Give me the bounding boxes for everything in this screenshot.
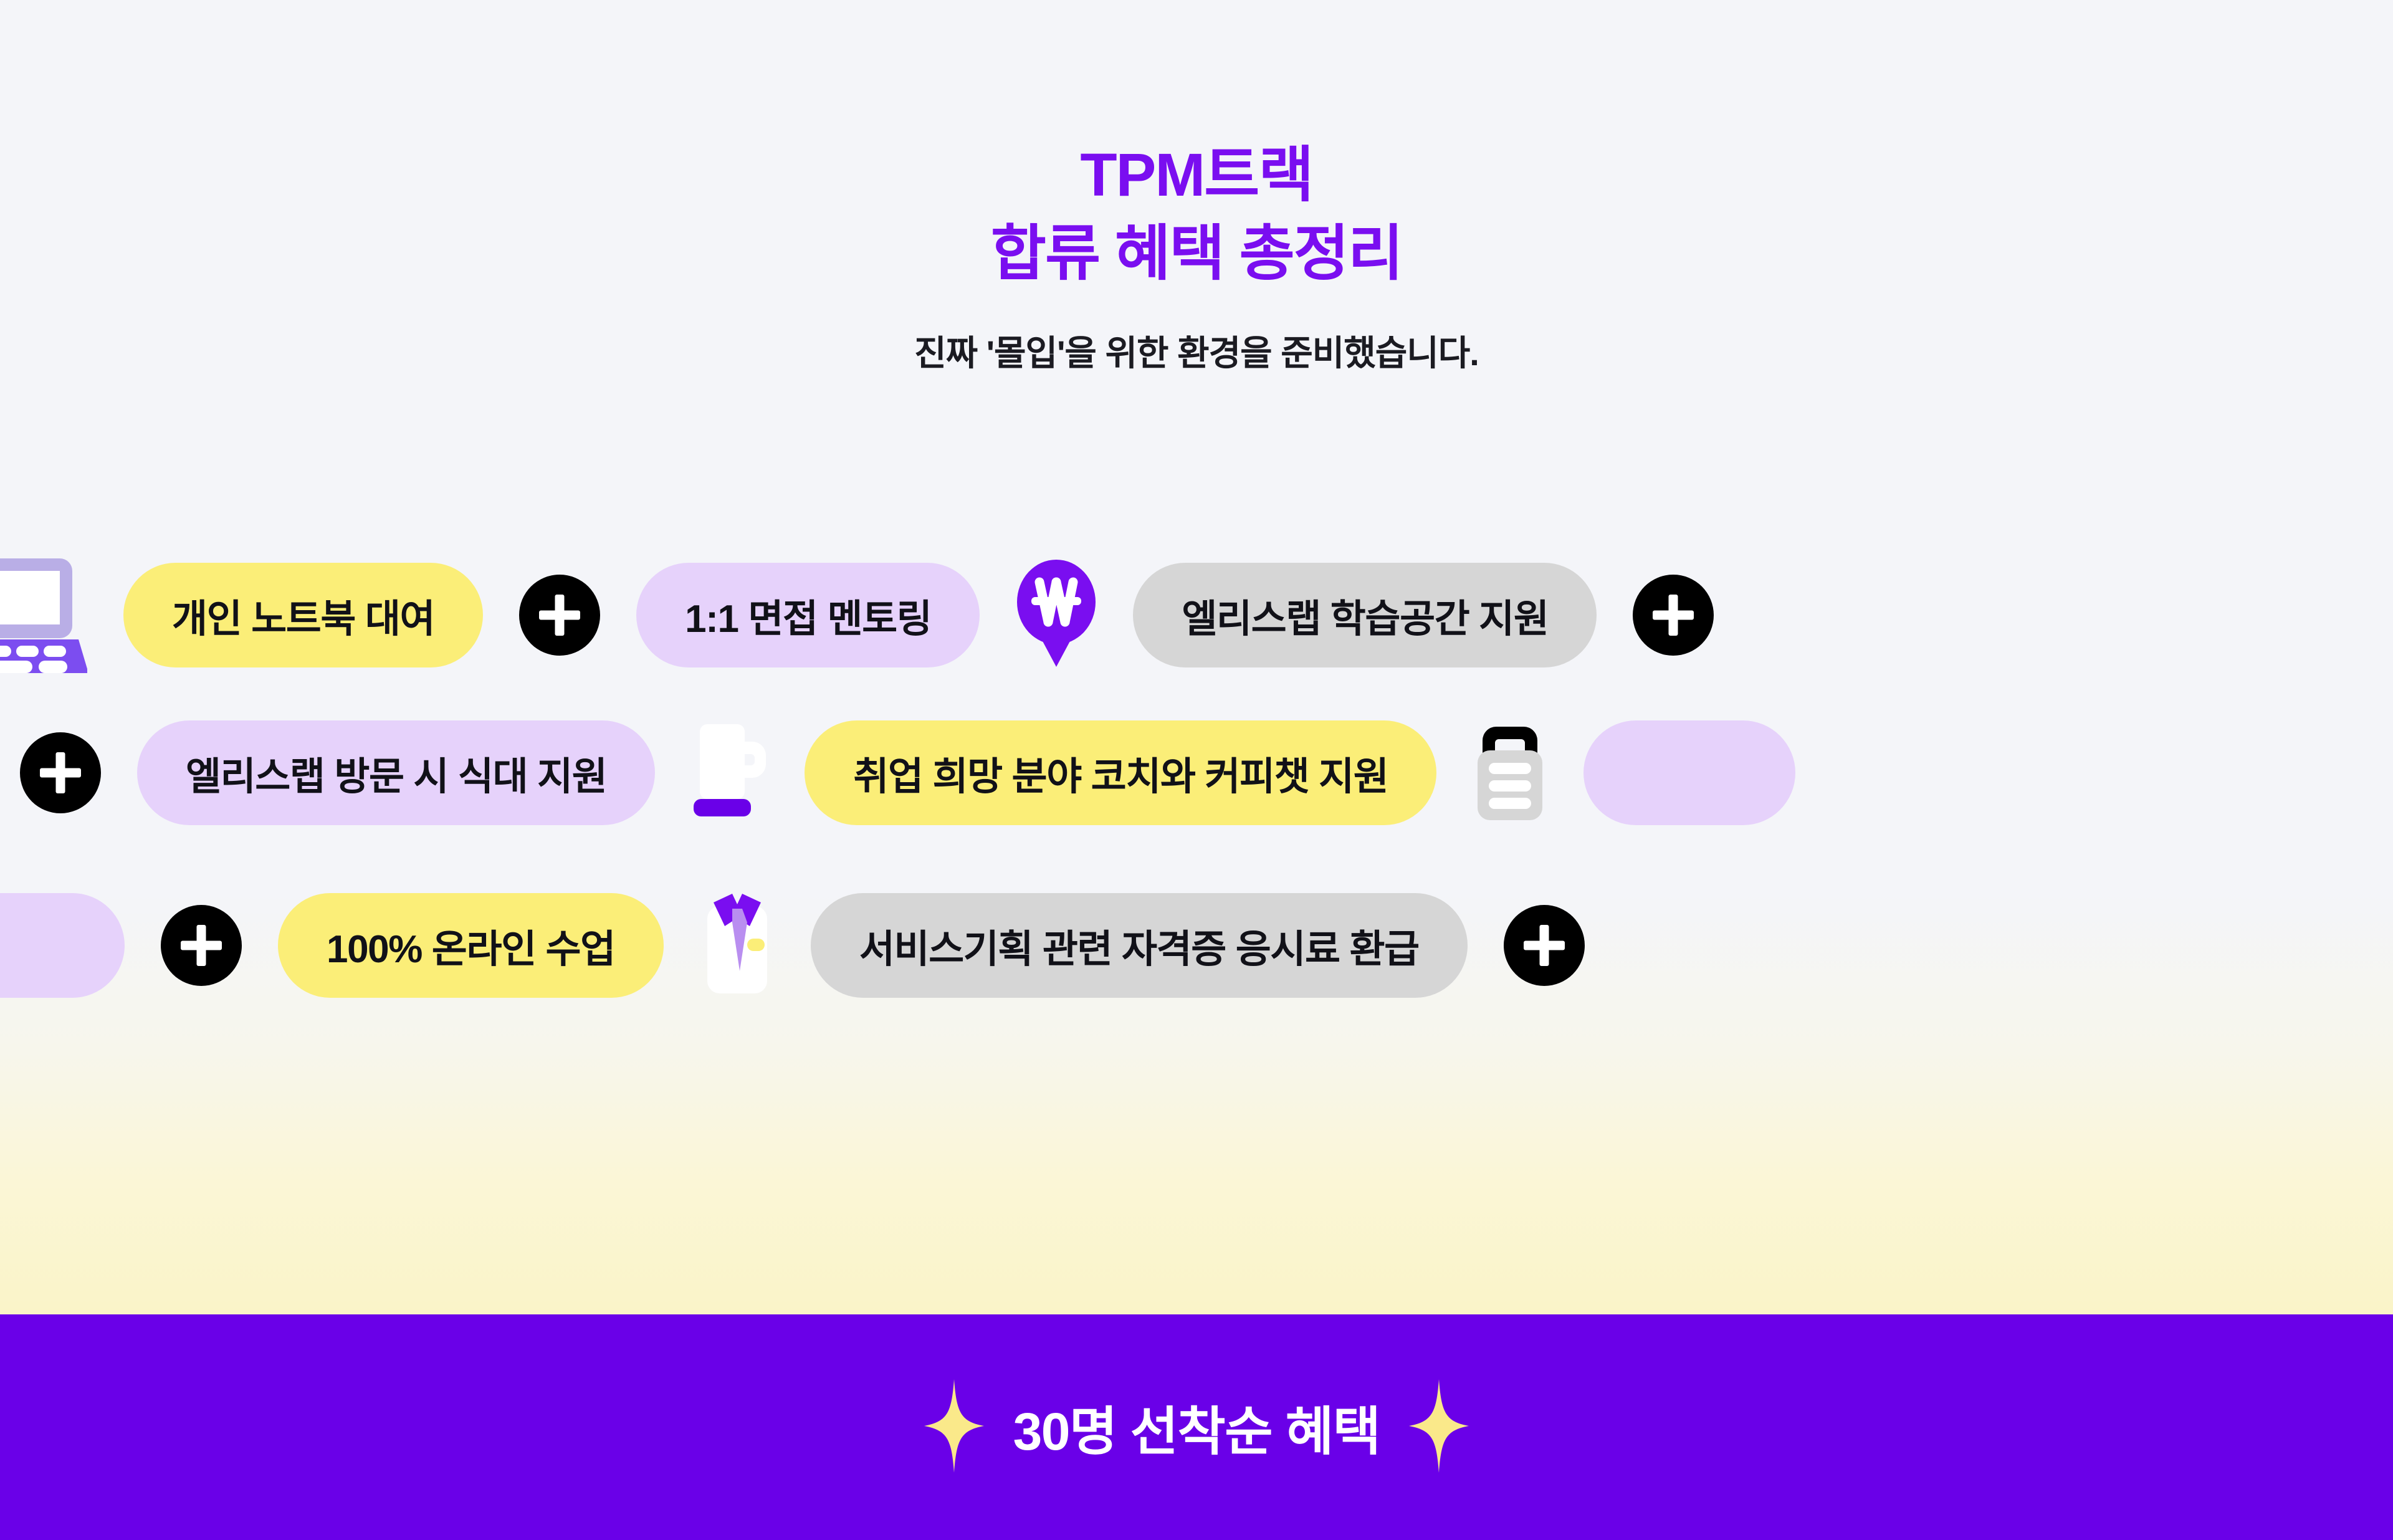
page-title: TPM트랙 합류 혜택 총정리 (0, 136, 2393, 293)
plus-icon (1633, 575, 1714, 656)
coffee-mug-icon (691, 718, 768, 827)
benefit-pill-certificate-refund[interactable]: 서비스기획 관련 자격증 응시료 환급 (811, 893, 1468, 998)
benefit-pill-coffee-chat[interactable]: 취업 희망 분야 코치와 커피챗 지원 (805, 720, 1436, 825)
laptop-icon (0, 551, 87, 679)
benefit-pill-interview-mentoring[interactable]: 1:1 면접 멘토링 (636, 563, 980, 667)
page-title-line-1: TPM트랙 (0, 136, 2393, 214)
necktie-icon (700, 887, 775, 1003)
benefit-pill-online-class[interactable]: 100% 온라인 수업 (278, 893, 664, 998)
plus-icon (161, 905, 242, 986)
benefit-pill-lab-study-space[interactable]: 엘리스랩 학습공간 지원 (1133, 563, 1597, 667)
briefcase-icon (1473, 718, 1547, 827)
sparkle-icon (1408, 1379, 1469, 1476)
page-title-line-2: 합류 혜택 총정리 (0, 214, 2393, 293)
page-subtitle: 진짜 '몰입'을 위한 환경을 준비했습니다. (0, 325, 2393, 376)
won-pin-icon (1016, 557, 1097, 672)
benefit-pill-partial-right[interactable] (1583, 720, 1795, 825)
benefit-row-1: 개인 노트북 대여 1:1 면접 멘토링 엘리스랩 학습공간 지원 (0, 551, 1714, 679)
benefit-row-3: 100% 온라인 수업 서비스기획 관련 자격증 응시료 환급 (0, 887, 1585, 1003)
banner-text: 30명 선착순 혜택 (1013, 1390, 1380, 1465)
bottom-banner: 30명 선착순 혜택 (0, 1314, 2393, 1540)
plus-icon (1504, 905, 1585, 986)
sparkle-icon (924, 1379, 985, 1476)
header: TPM트랙 합류 혜택 총정리 진짜 '몰입'을 위한 환경을 준비했습니다. (0, 0, 2393, 376)
plus-icon (519, 575, 600, 656)
benefit-pill-partial-left[interactable] (0, 893, 125, 998)
plus-icon (20, 732, 101, 813)
benefit-row-2: 엘리스랩 방문 시 식대 지원 취업 희망 분야 코치와 커피챗 지원 (0, 718, 1795, 827)
benefit-pill-meal-support[interactable]: 엘리스랩 방문 시 식대 지원 (137, 720, 655, 825)
benefit-pill-laptop-rental[interactable]: 개인 노트북 대여 (123, 563, 483, 667)
